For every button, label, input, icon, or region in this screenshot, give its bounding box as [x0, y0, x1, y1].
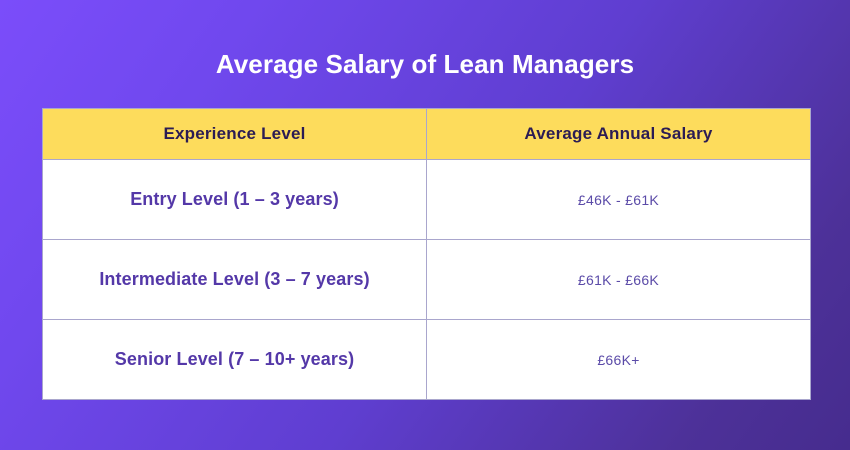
table-row: Entry Level (1 – 3 years) £46K - £61K — [43, 160, 811, 240]
cell-experience-level: Senior Level (7 – 10+ years) — [43, 320, 427, 400]
page-title: Average Salary of Lean Managers — [0, 48, 850, 80]
salary-table: Experience Level Average Annual Salary E… — [42, 108, 811, 400]
salary-infographic-poster: Average Salary of Lean Managers Experien… — [0, 0, 850, 450]
table-header: Experience Level Average Annual Salary — [43, 109, 811, 160]
cell-average-annual-salary: £66K+ — [427, 320, 811, 400]
cell-experience-level: Intermediate Level (3 – 7 years) — [43, 240, 427, 320]
table-row: Senior Level (7 – 10+ years) £66K+ — [43, 320, 811, 400]
table-body: Entry Level (1 – 3 years) £46K - £61K In… — [43, 160, 811, 400]
cell-experience-level: Entry Level (1 – 3 years) — [43, 160, 427, 240]
column-header-experience-level: Experience Level — [43, 109, 427, 160]
cell-average-annual-salary: £61K - £66K — [427, 240, 811, 320]
table-row: Intermediate Level (3 – 7 years) £61K - … — [43, 240, 811, 320]
table-header-row: Experience Level Average Annual Salary — [43, 109, 811, 160]
cell-average-annual-salary: £46K - £61K — [427, 160, 811, 240]
column-header-average-annual-salary: Average Annual Salary — [427, 109, 811, 160]
